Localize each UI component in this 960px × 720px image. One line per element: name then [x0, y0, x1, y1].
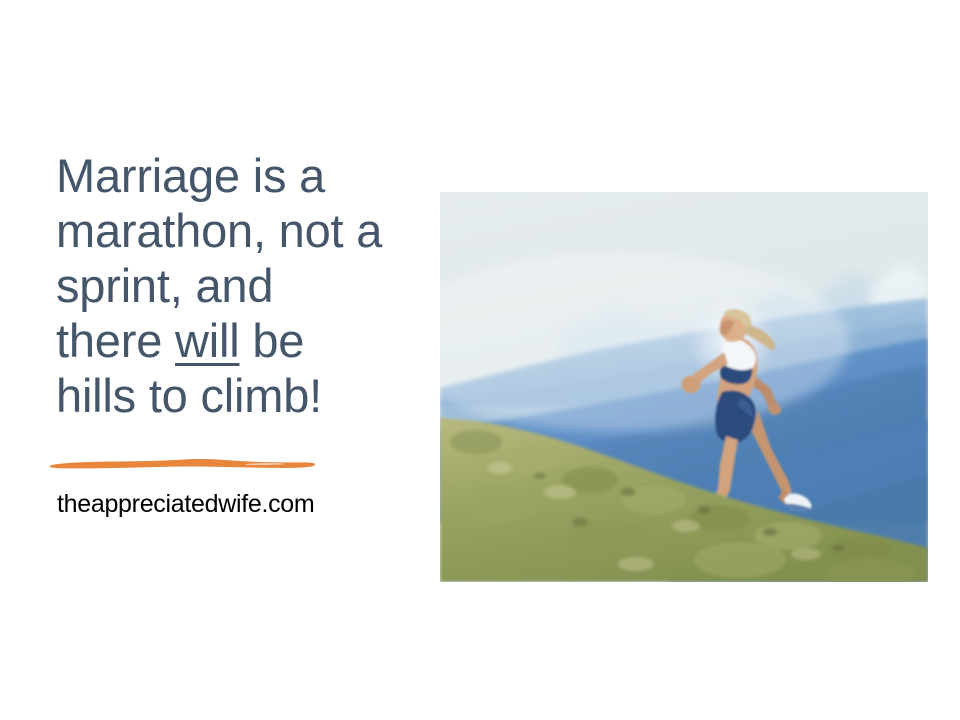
runner-photo [440, 192, 928, 582]
quote-block: Marriage is a marathon, not a sprint, an… [56, 148, 426, 423]
quote-text: Marriage is a marathon, not a sprint, an… [56, 148, 426, 423]
website-url: theappreciatedwife.com [57, 489, 314, 519]
quote-emphasis-will: will [175, 314, 239, 367]
slide-canvas: Marriage is a marathon, not a sprint, an… [0, 0, 960, 720]
orange-divider [48, 450, 318, 480]
